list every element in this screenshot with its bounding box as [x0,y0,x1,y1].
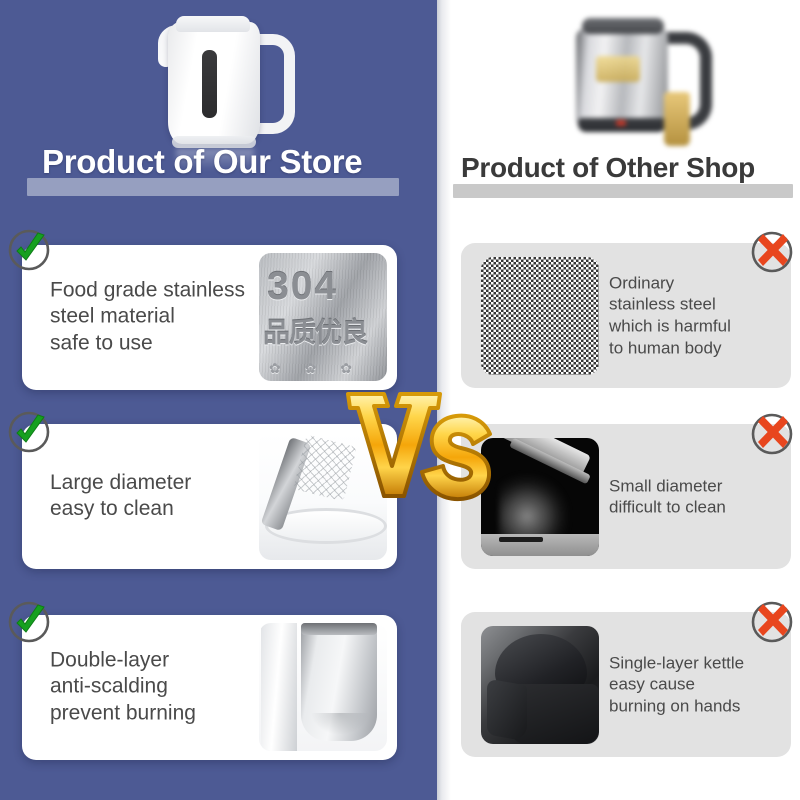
other-kettle-indicator-light [616,120,626,126]
con-card-3-text: Single-layer kettleeasy causeburning on … [609,652,784,717]
kettle-base-slot [499,537,543,542]
con-card-1: Ordinarystainless steelwhich is harmfult… [461,243,791,388]
con-card-2-text: Small diameterdifficult to clean [609,475,784,519]
steel-grade-label: 304 [267,265,338,309]
hero-other-kettle-image [556,6,716,152]
outer-wall [261,623,297,751]
con-card-2: Small diameterdifficult to clean [461,424,791,569]
con-card-3-thumbnail [481,626,599,744]
red-cross-icon [750,600,794,644]
green-check-icon [7,600,51,644]
comparison-infographic: Product of Our Store Product of Other Sh… [0,0,800,800]
vs-badge [344,388,494,506]
green-check-icon [7,228,51,272]
red-cross-icon [750,412,794,456]
pro-card-1: Food grade stainlesssteel materialsafe t… [22,245,397,390]
right-title-underline [453,184,793,198]
black-kettle-spout [487,678,527,741]
left-column-title: Product of Our Store [42,143,362,181]
pro-card-3: Double-layeranti-scaldingprevent burning [22,615,397,760]
con-card-1-text: Ordinarystainless steelwhich is harmfult… [609,272,784,359]
pro-card-3-text: Double-layeranti-scaldingprevent burning [50,647,270,728]
pro-card-1-thumbnail: 304 品质优良 ✿ ✿ ✿ [259,253,387,381]
red-cross-icon [750,230,794,274]
pro-card-2: Large diametereasy to clean [22,424,397,569]
inner-shadow [311,713,369,735]
green-check-icon [7,410,51,454]
pro-card-1-text: Food grade stainlesssteel materialsafe t… [50,277,270,358]
con-card-2-thumbnail [481,438,599,556]
steel-stars-label: ✿ ✿ ✿ [269,360,362,377]
pro-card-3-thumbnail [259,623,387,751]
kettle-lid [176,16,250,32]
hero-our-kettle-image [150,4,295,154]
other-kettle-lid [582,18,664,34]
pro-card-2-text: Large diametereasy to clean [50,470,270,524]
other-kettle-window [596,56,640,82]
con-card-3: Single-layer kettleeasy causeburning on … [461,612,791,757]
right-column-title: Product of Other Shop [461,152,755,184]
inner-lip [301,623,377,635]
con-card-1-thumbnail [481,257,599,375]
steel-cjk-label: 品质优良 [263,311,367,350]
kettle-water-window [202,50,217,118]
other-kettle-filter [664,92,690,146]
